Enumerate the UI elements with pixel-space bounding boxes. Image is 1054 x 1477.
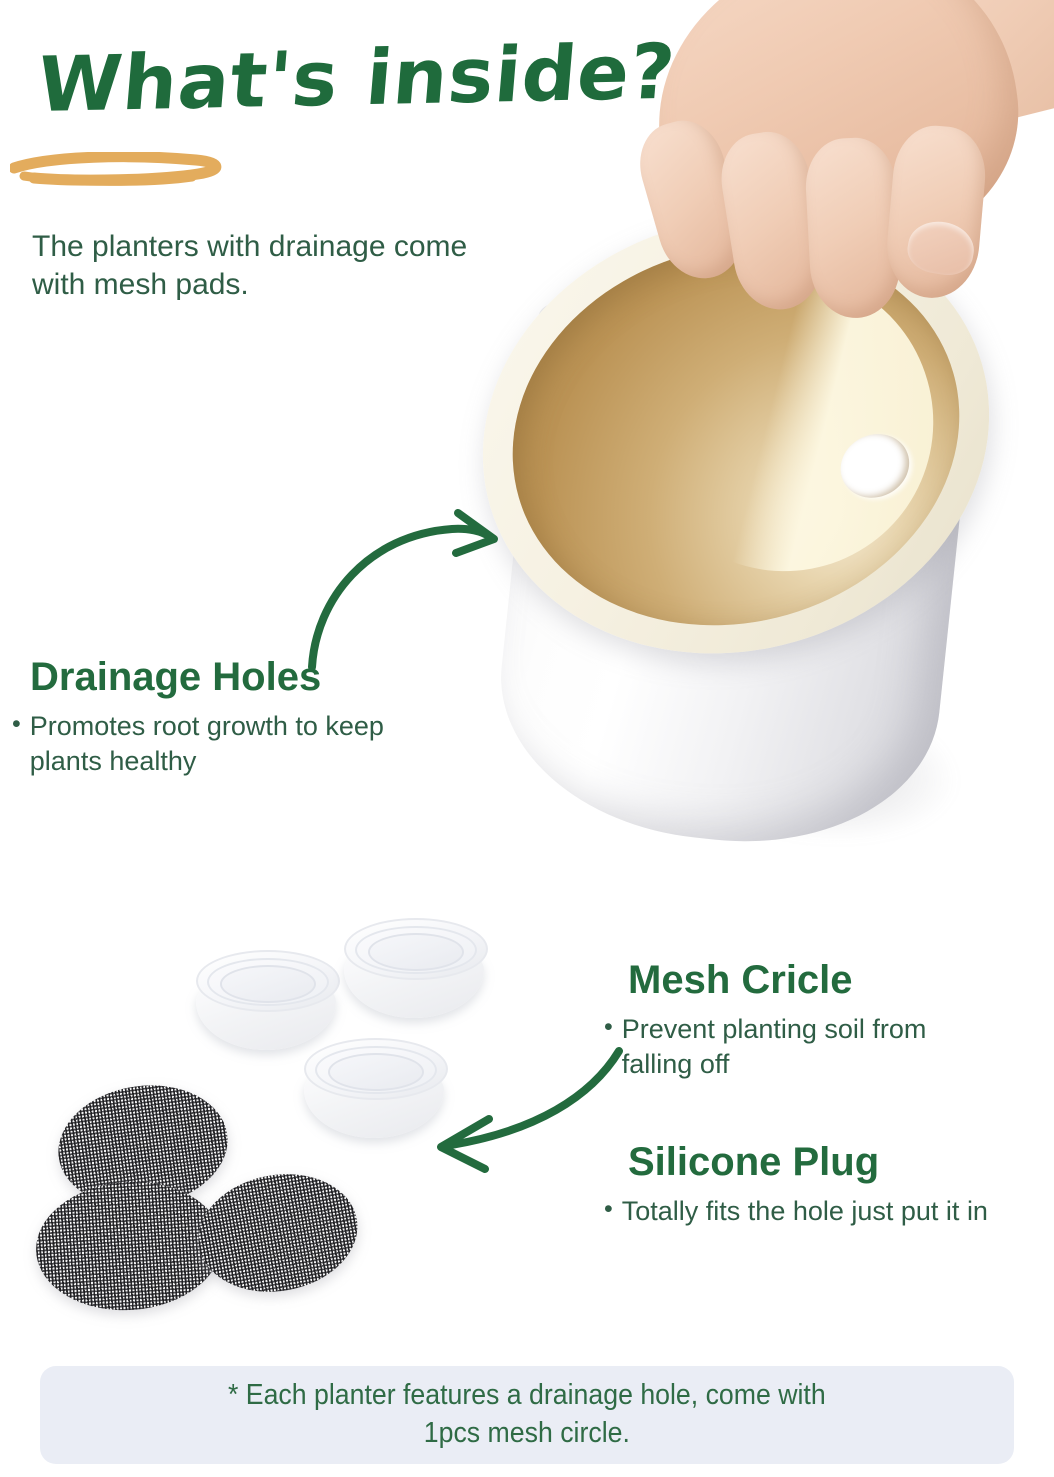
mesh-circle [189,1162,367,1304]
bullet-text: Promotes root growth to keep plants heal… [30,709,412,779]
section-title: Drainage Holes [30,655,412,699]
footer-note-line-1: * Each planter features a drainage hole,… [228,1377,826,1415]
section-bullet: • Promotes root growth to keep plants he… [12,709,412,779]
footer-note: * Each planter features a drainage hole,… [228,1377,826,1452]
footer-note-line-2: 1pcs mesh circle. [228,1415,826,1453]
section-bullet: • Prevent planting soil from falling off [604,1012,964,1082]
bullet-text: Prevent planting soil from falling off [622,1012,964,1082]
title-underline-swoosh [10,152,230,188]
section-mesh-circle: Mesh Cricle • Prevent planting soil from… [604,958,964,1082]
section-bullet: • Totally fits the hole just put it in [604,1194,1004,1229]
plug-inner-ring [220,965,316,1003]
section-drainage-holes: Drainage Holes • Promotes root growth to… [12,655,412,779]
infographic-page: What's inside? The planters with drainag… [0,0,1054,1477]
bullet-marker-icon: • [604,1194,613,1229]
planter-photo [360,0,1054,890]
section-title: Silicone Plug [628,1140,1004,1184]
silicone-plug [344,918,484,1018]
hand-gripping-pot [578,0,1048,380]
bullet-marker-icon: • [604,1012,613,1082]
section-silicone-plug: Silicone Plug • Totally fits the hole ju… [604,1140,1004,1229]
footer-note-box: * Each planter features a drainage hole,… [40,1366,1014,1464]
curved-arrow-to-drainage-hole-icon [290,495,590,675]
plug-inner-ring [368,933,464,971]
plug-inner-ring [328,1053,424,1091]
silicone-plug [196,950,336,1050]
mesh-circle [32,1176,226,1317]
bullet-marker-icon: • [12,709,21,779]
section-title: Mesh Cricle [628,958,964,1002]
bullet-text: Totally fits the hole just put it in [622,1194,1004,1229]
